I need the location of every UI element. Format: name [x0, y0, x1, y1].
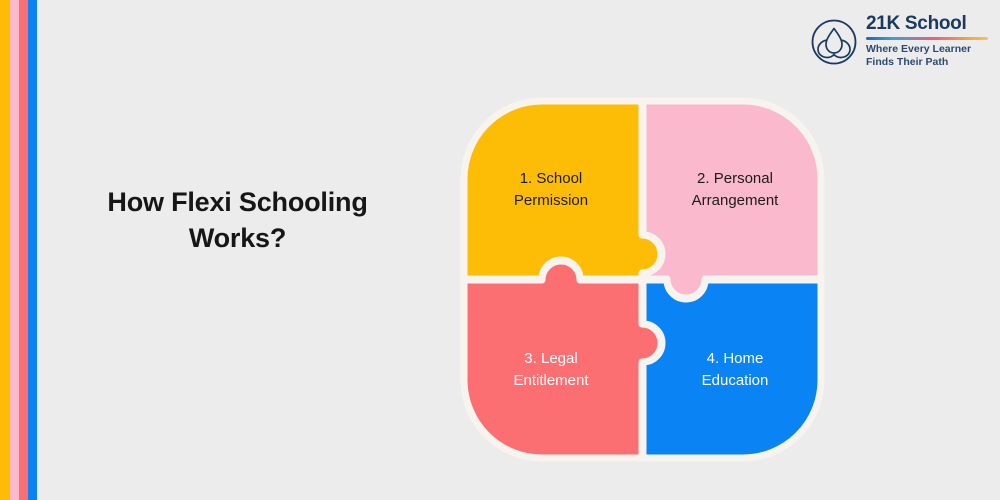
puzzle-piece-1-line2: Permission [466, 190, 636, 212]
page-title-line1: How Flexi Schooling [60, 184, 415, 220]
infographic-canvas: How Flexi Schooling Works? 21K School Wh… [0, 0, 1000, 500]
stripe-pink [10, 0, 19, 500]
puzzle-piece-2-line1: 2. Personal [650, 168, 820, 190]
page-title: How Flexi Schooling Works? [60, 184, 415, 257]
lotus-circle-icon [810, 18, 858, 66]
puzzle-piece-1-line1: 1. School [466, 168, 636, 190]
puzzle-piece-4-line1: 4. Home [650, 348, 820, 370]
puzzle-piece-4-label: 4. Home Education [650, 348, 820, 392]
puzzle-piece-4-line2: Education [650, 370, 820, 392]
brand-tagline-line1: Where Every Learner [866, 43, 990, 56]
brand-logo: 21K School Where Every Learner Finds The… [810, 14, 990, 72]
puzzle-piece-2-label: 2. Personal Arrangement [650, 168, 820, 212]
stripe-coral [19, 0, 28, 500]
puzzle-piece-2-line2: Arrangement [650, 190, 820, 212]
page-title-line2: Works? [60, 220, 415, 256]
brand-logo-text: 21K School Where Every Learner Finds The… [866, 14, 990, 69]
puzzle-diagram [455, 92, 830, 467]
brand-name: 21K School [866, 14, 990, 35]
brand-gradient-rule [866, 37, 988, 40]
puzzle-piece-3-line1: 3. Legal [466, 348, 636, 370]
stripe-blue [28, 0, 37, 500]
left-accent-stripes [0, 0, 37, 500]
stripe-yellow [0, 0, 10, 500]
brand-tagline-line2: Finds Their Path [866, 56, 990, 69]
puzzle-piece-3-label: 3. Legal Entitlement [466, 348, 636, 392]
puzzle-piece-1-label: 1. School Permission [466, 168, 636, 212]
brand-tagline: Where Every Learner Finds Their Path [866, 43, 990, 69]
puzzle-piece-3-line2: Entitlement [466, 370, 636, 392]
